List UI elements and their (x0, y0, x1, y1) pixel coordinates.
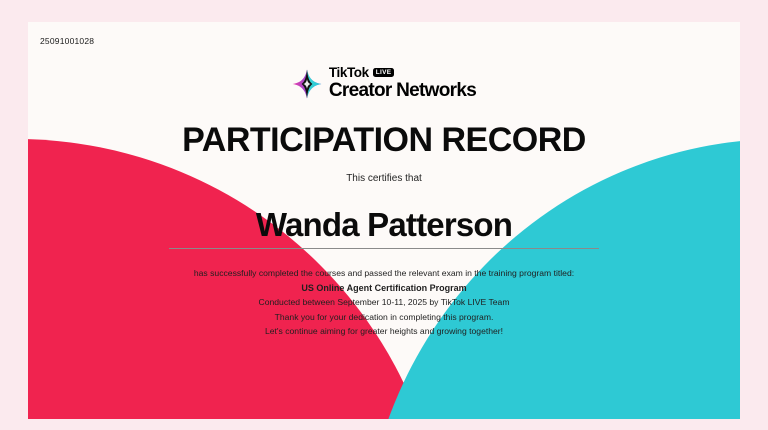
sub-brand-name: Creator Networks (329, 81, 476, 101)
body-line-thanks: Thank you for your dedication in complet… (28, 310, 740, 325)
certificate-card: 25091001028 (28, 22, 740, 419)
body-line-intro: has successfully completed the courses a… (28, 266, 740, 281)
body-line-program: US Online Agent Certification Program (28, 281, 740, 296)
recipient-name: Wanda Patterson (28, 208, 740, 243)
certificate-body: has successfully completed the courses a… (28, 266, 740, 339)
recipient-name-underline (169, 248, 599, 249)
body-line-dates: Conducted between September 10-11, 2025 … (28, 295, 740, 310)
certificate-subtitle: This certifies that (28, 173, 740, 184)
serial-number: 25091001028 (40, 36, 94, 46)
certificate-content: TikTok LIVE Creator Networks PARTICIPATI… (28, 66, 740, 339)
brand-name: TikTok (329, 66, 369, 79)
sparkle-icon (292, 69, 322, 99)
brand-logo-text: TikTok LIVE Creator Networks (329, 66, 476, 101)
live-badge: LIVE (373, 68, 395, 77)
brand-logo-line-primary: TikTok LIVE (329, 66, 476, 79)
body-line-closing: Let's continue aiming for greater height… (28, 324, 740, 339)
brand-logo: TikTok LIVE Creator Networks (28, 66, 740, 101)
certificate-title: PARTICIPATION RECORD (28, 123, 740, 159)
certificate-page: 25091001028 (0, 0, 768, 430)
